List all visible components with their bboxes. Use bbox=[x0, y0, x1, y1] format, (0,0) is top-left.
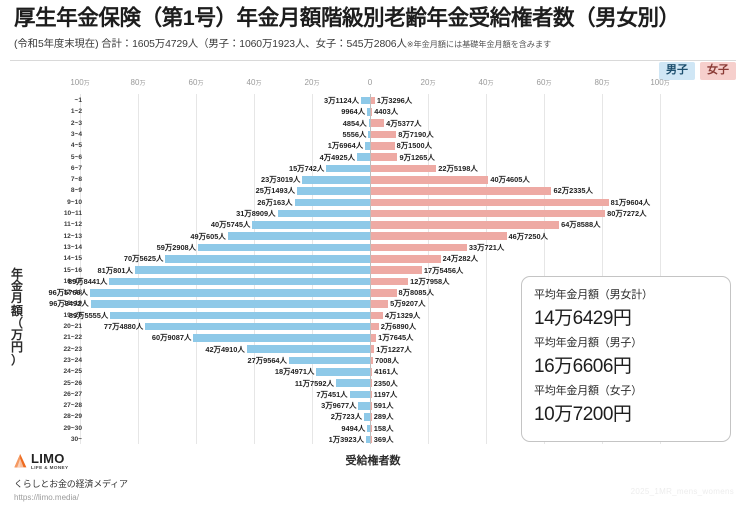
bar-value-female: 2万6890人 bbox=[381, 321, 416, 332]
bar-female bbox=[371, 379, 372, 387]
x-tick-label: 20万 bbox=[305, 78, 320, 87]
x-tick-label: 60万 bbox=[537, 78, 552, 87]
x-tick-label: 20万 bbox=[421, 78, 436, 87]
bar-male bbox=[297, 187, 370, 195]
bar-male bbox=[369, 119, 370, 127]
bar-value-male: 96万5766人 bbox=[48, 287, 87, 298]
row-category-label: 24~25 bbox=[30, 366, 82, 377]
bar-value-male: 11万7592人 bbox=[295, 378, 334, 389]
bar-value-male: 31万8909人 bbox=[236, 208, 275, 219]
bar-value-male: 40万5745人 bbox=[211, 219, 250, 230]
x-tick-label: 100万 bbox=[70, 78, 89, 87]
bar-value-male: 4万4925人 bbox=[320, 152, 355, 163]
stat-item: 平均年金月額（男女計）14万6429円 bbox=[534, 286, 718, 330]
bar-male bbox=[135, 266, 370, 274]
x-tick-label: 60万 bbox=[189, 78, 204, 87]
bar-value-male: 1万6964人 bbox=[328, 140, 363, 151]
bar-value-female: 369人 bbox=[374, 434, 394, 445]
header-subtitle-main: (令和5年度末現在) 合計：1605万4729人（男子：1060万1923人、女… bbox=[14, 39, 407, 50]
footer-url[interactable]: https://limo.media/ bbox=[14, 493, 128, 502]
chart-row: 5~64万4925人9万1265人 bbox=[0, 152, 746, 163]
bar-male bbox=[350, 391, 370, 399]
bar-female bbox=[371, 323, 379, 331]
bar-female bbox=[371, 142, 395, 150]
bar-value-female: 158人 bbox=[374, 423, 394, 434]
bar-value-female: 1万3296人 bbox=[377, 95, 412, 106]
bar-male bbox=[90, 289, 370, 297]
bar-value-female: 289人 bbox=[374, 411, 394, 422]
stat-label: 平均年金月額（男女計） bbox=[534, 286, 718, 302]
logo-tagline: LIFE & MONEY bbox=[31, 466, 68, 471]
chart-row: 13~1459万2908人33万721人 bbox=[0, 242, 746, 253]
bar-female bbox=[371, 368, 372, 376]
bar-female bbox=[371, 266, 422, 274]
bar-value-female: 17万5456人 bbox=[424, 265, 463, 276]
header: 厚生年金保険（第1号）年金月額階級別老齢年金受給権者数（男女別） (令和5年度末… bbox=[14, 6, 736, 50]
header-subtitle: (令和5年度末現在) 合計：1605万4729人（男子：1060万1923人、女… bbox=[14, 35, 736, 50]
chart-row: 1~29964人4403人 bbox=[0, 106, 746, 117]
bar-male bbox=[357, 153, 370, 161]
chart-row: 6~715万742人22万5198人 bbox=[0, 163, 746, 174]
chart-row: 7~823万3019人40万4605人 bbox=[0, 174, 746, 185]
bar-female bbox=[371, 199, 609, 207]
bar-female bbox=[371, 300, 388, 308]
bar-male bbox=[336, 379, 370, 387]
watermark: 2025_1MR_mens_womens bbox=[631, 487, 734, 496]
bar-male bbox=[165, 255, 370, 263]
chart-row: 10~1131万8909人80万7272人 bbox=[0, 208, 746, 219]
bar-value-female: 2350人 bbox=[374, 378, 398, 389]
stat-label: 平均年金月額（女子） bbox=[534, 382, 718, 398]
bar-value-female: 7008人 bbox=[375, 355, 399, 366]
bar-female bbox=[371, 176, 488, 184]
row-category-label: 28~29 bbox=[30, 411, 82, 422]
bar-value-male: 4854人 bbox=[343, 118, 367, 129]
x-tick-label: 80万 bbox=[131, 78, 146, 87]
bar-value-female: 8万8085人 bbox=[399, 287, 434, 298]
row-category-label: 15~16 bbox=[30, 265, 82, 276]
logo-text: LIMO LIFE & MONEY bbox=[31, 452, 68, 471]
row-category-label: 26~27 bbox=[30, 389, 82, 400]
bar-value-female: 80万7272人 bbox=[607, 208, 646, 219]
row-category-label: 29~30 bbox=[30, 423, 82, 434]
bar-value-female: 40万4605人 bbox=[490, 174, 529, 185]
x-axis-ticks: 100万80万60万40万20万020万40万60万80万100万 bbox=[0, 78, 746, 94]
bar-female bbox=[371, 436, 372, 444]
chart-row: 2~34854人4万5377人 bbox=[0, 118, 746, 129]
bar-male bbox=[302, 176, 370, 184]
bar-male bbox=[278, 210, 370, 218]
row-category-label: 21~22 bbox=[30, 332, 82, 343]
bar-male bbox=[361, 97, 370, 105]
chart-row: 12~1349万605人46万7250人 bbox=[0, 231, 746, 242]
row-category-label: 22~23 bbox=[30, 344, 82, 355]
row-category-label: 11~12 bbox=[30, 219, 82, 230]
row-category-label: 10~11 bbox=[30, 208, 82, 219]
bar-value-male: 60万9087人 bbox=[152, 332, 191, 343]
bar-male bbox=[366, 436, 370, 444]
chart-row: 11~1240万5745人64万8588人 bbox=[0, 219, 746, 230]
stat-item: 平均年金月額（男子）16万6606円 bbox=[534, 334, 718, 378]
bar-male bbox=[368, 131, 370, 139]
bar-female bbox=[371, 187, 551, 195]
bar-value-female: 1197人 bbox=[374, 389, 397, 400]
bar-male bbox=[367, 108, 370, 116]
stat-value: 16万6606円 bbox=[534, 351, 718, 378]
bar-value-male: 3万9677人 bbox=[321, 400, 356, 411]
bar-value-female: 4161人 bbox=[374, 366, 398, 377]
bar-value-female: 46万7250人 bbox=[509, 231, 548, 242]
bar-female bbox=[371, 165, 436, 173]
bar-value-male: 9494人 bbox=[341, 423, 365, 434]
bar-value-male: 7万451人 bbox=[316, 389, 347, 400]
bar-male bbox=[365, 142, 370, 150]
stat-value: 10万7200円 bbox=[534, 399, 718, 426]
x-tick-label: 40万 bbox=[479, 78, 494, 87]
bar-value-female: 4万1329人 bbox=[385, 310, 420, 321]
chart-row: 8~925万1493人62万2335人 bbox=[0, 185, 746, 196]
bar-female bbox=[371, 153, 397, 161]
chart-row: 14~1570万5625人24万282人 bbox=[0, 253, 746, 264]
bar-female bbox=[371, 345, 374, 353]
bar-value-female: 8万7190人 bbox=[398, 129, 433, 140]
bar-value-female: 22万5198人 bbox=[438, 163, 477, 174]
row-category-label: 5~6 bbox=[30, 152, 82, 163]
row-category-label: 25~26 bbox=[30, 378, 82, 389]
bar-value-male: 81万801人 bbox=[98, 265, 133, 276]
bar-female bbox=[371, 357, 373, 365]
bar-female bbox=[371, 278, 408, 286]
row-category-label: ~1 bbox=[30, 95, 82, 106]
average-pension-summary-box: 平均年金月額（男女計）14万6429円平均年金月額（男子）16万6606円平均年… bbox=[521, 276, 731, 442]
bar-female bbox=[371, 425, 372, 433]
bar-male bbox=[252, 221, 370, 229]
footer: LIMO LIFE & MONEY くらしとお金の経済メディア https://… bbox=[14, 452, 128, 502]
bar-value-male: 96万3492人 bbox=[49, 298, 88, 309]
bar-value-male: 49万605人 bbox=[190, 231, 225, 242]
bar-value-male: 5556人 bbox=[343, 129, 367, 140]
bar-value-female: 24万282人 bbox=[443, 253, 478, 264]
bar-value-male: 59万2908人 bbox=[157, 242, 196, 253]
row-category-label: 7~8 bbox=[30, 174, 82, 185]
bar-male bbox=[228, 232, 370, 240]
bar-value-female: 33万721人 bbox=[469, 242, 504, 253]
bar-value-male: 27万9564人 bbox=[247, 355, 286, 366]
bar-male bbox=[367, 425, 370, 433]
bar-male bbox=[326, 165, 370, 173]
bar-value-female: 4403人 bbox=[374, 106, 398, 117]
bar-female bbox=[371, 402, 372, 410]
bar-female bbox=[371, 232, 507, 240]
x-tick-label: 100万 bbox=[650, 78, 669, 87]
bar-value-female: 12万7958人 bbox=[410, 276, 449, 287]
header-divider bbox=[10, 60, 736, 61]
x-tick-label: 80万 bbox=[595, 78, 610, 87]
bar-female bbox=[371, 334, 376, 342]
bar-value-male: 1万3923人 bbox=[329, 434, 364, 445]
bar-value-female: 1万1227人 bbox=[376, 344, 411, 355]
bar-value-male: 18万4971人 bbox=[275, 366, 314, 377]
brand-logo: LIMO LIFE & MONEY bbox=[14, 452, 128, 471]
bar-female bbox=[371, 391, 372, 399]
bar-female bbox=[371, 131, 396, 139]
stat-value: 14万6429円 bbox=[534, 303, 718, 330]
bar-value-female: 4万5377人 bbox=[386, 118, 421, 129]
bar-value-female: 5万9207人 bbox=[390, 298, 425, 309]
bar-male bbox=[364, 413, 370, 421]
row-category-label: 13~14 bbox=[30, 242, 82, 253]
bar-female bbox=[371, 221, 559, 229]
x-tick-label: 40万 bbox=[247, 78, 262, 87]
row-category-label: 23~24 bbox=[30, 355, 82, 366]
bar-value-male: 3万1124人 bbox=[324, 95, 359, 106]
bar-value-female: 8万1500人 bbox=[397, 140, 432, 151]
bar-value-male: 89万8441人 bbox=[68, 276, 107, 287]
bar-male bbox=[110, 312, 370, 320]
row-category-label: 1~2 bbox=[30, 106, 82, 117]
stat-item: 平均年金月額（女子）10万7200円 bbox=[534, 382, 718, 426]
bar-value-female: 64万8588人 bbox=[561, 219, 600, 230]
bar-female bbox=[371, 97, 375, 105]
bar-value-female: 62万2335人 bbox=[553, 185, 592, 196]
limo-triangle-icon bbox=[14, 454, 27, 468]
row-category-label: 27~28 bbox=[30, 400, 82, 411]
chart-row: 4~51万6964人8万1500人 bbox=[0, 140, 746, 151]
bar-female bbox=[371, 108, 372, 116]
bar-value-female: 591人 bbox=[374, 400, 394, 411]
bar-male bbox=[145, 323, 370, 331]
bar-value-male: 26万163人 bbox=[257, 197, 292, 208]
bar-male bbox=[295, 199, 370, 207]
bar-female bbox=[371, 413, 372, 421]
bar-value-female: 81万9604人 bbox=[611, 197, 650, 208]
row-category-label: 3~4 bbox=[30, 129, 82, 140]
bar-value-male: 89万5555人 bbox=[69, 310, 108, 321]
bar-male bbox=[289, 357, 370, 365]
footer-description: くらしとお金の経済メディア bbox=[14, 477, 128, 490]
bar-value-male: 2万723人 bbox=[331, 411, 362, 422]
bar-female bbox=[371, 119, 384, 127]
bar-value-male: 77万4880人 bbox=[104, 321, 143, 332]
page-title: 厚生年金保険（第1号）年金月額階級別老齢年金受給権者数（男女別） bbox=[14, 6, 736, 31]
bar-value-male: 9964人 bbox=[341, 106, 365, 117]
row-category-label: 2~3 bbox=[30, 118, 82, 129]
bar-female bbox=[371, 210, 605, 218]
bar-value-male: 70万5625人 bbox=[124, 253, 163, 264]
row-category-label: 8~9 bbox=[30, 185, 82, 196]
bar-value-female: 9万1265人 bbox=[399, 152, 434, 163]
stat-label: 平均年金月額（男子） bbox=[534, 334, 718, 350]
row-category-label: 4~5 bbox=[30, 140, 82, 151]
row-category-label: 12~13 bbox=[30, 231, 82, 242]
row-category-label: 30~ bbox=[30, 434, 82, 445]
bar-female bbox=[371, 312, 383, 320]
row-category-label: 20~21 bbox=[30, 321, 82, 332]
bar-female bbox=[371, 244, 467, 252]
bar-male bbox=[193, 334, 370, 342]
bar-male bbox=[91, 300, 370, 308]
chart-row: 15~1681万801人17万5456人 bbox=[0, 265, 746, 276]
bar-female bbox=[371, 289, 397, 297]
bar-female bbox=[371, 255, 441, 263]
x-tick-label: 0 bbox=[368, 78, 372, 87]
row-category-label: 6~7 bbox=[30, 163, 82, 174]
chart-row: 9~1026万163人81万9604人 bbox=[0, 197, 746, 208]
bar-male bbox=[358, 402, 370, 410]
header-subtitle-note: ※年金月額には基礎年金月額を含みます bbox=[407, 40, 551, 49]
bar-male bbox=[198, 244, 370, 252]
bar-male bbox=[316, 368, 370, 376]
bar-value-male: 42万4910人 bbox=[205, 344, 244, 355]
bar-value-male: 15万742人 bbox=[289, 163, 324, 174]
bar-male bbox=[247, 345, 370, 353]
chart-row: 3~45556人8万7190人 bbox=[0, 129, 746, 140]
infographic-page: 厚生年金保険（第1号）年金月額階級別老齢年金受給権者数（男女別） (令和5年度末… bbox=[0, 0, 746, 507]
bar-value-male: 23万3019人 bbox=[261, 174, 300, 185]
row-category-label: 14~15 bbox=[30, 253, 82, 264]
chart-row: ~13万1124人1万3296人 bbox=[0, 95, 746, 106]
logo-name: LIMO bbox=[31, 452, 68, 465]
bar-male bbox=[109, 278, 370, 286]
row-category-label: 9~10 bbox=[30, 197, 82, 208]
bar-value-male: 25万1493人 bbox=[256, 185, 295, 196]
bar-value-female: 1万7645人 bbox=[378, 332, 413, 343]
